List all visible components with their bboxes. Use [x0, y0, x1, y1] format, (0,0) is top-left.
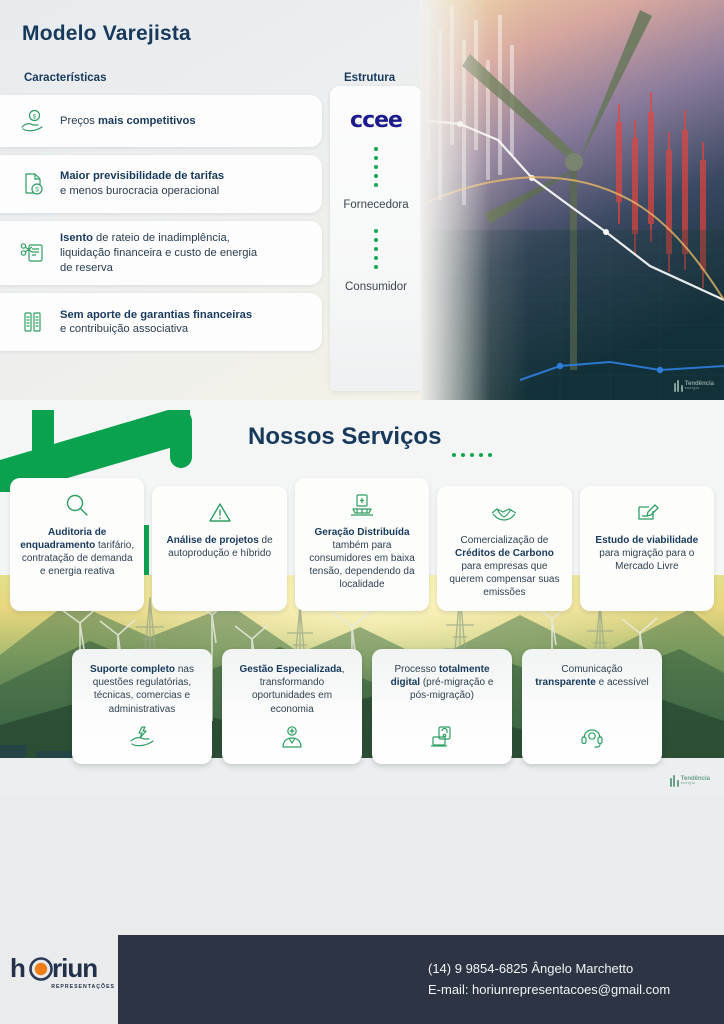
feature-bold: Sem aporte de garantias financeiras: [60, 309, 252, 321]
warning-triangle-icon: [207, 498, 233, 528]
service-card-comunicacao-transparente[interactable]: Comunicação transparente e acessível: [522, 649, 662, 764]
service-text: Auditoria de enquadramento tarifário, co…: [18, 526, 136, 578]
feature-line2: liquidação financeira e custo de energia: [60, 247, 257, 259]
service-bold: Análise de projetos: [167, 535, 259, 546]
service-card-auditoria[interactable]: Auditoria de enquadramento tarifário, co…: [10, 478, 144, 611]
horiun-logo[interactable]: h riun REPRESENTAÇÕES: [10, 953, 115, 990]
solar-panel-icon: [349, 490, 375, 520]
service-card-analise[interactable]: Análise de projetos de autoprodução e hí…: [152, 486, 286, 611]
services-top-row: Auditoria de enquadramento tarifário, co…: [10, 478, 714, 611]
watermark-text: Tendência energia: [685, 381, 714, 391]
dot-connector-2: [374, 229, 378, 269]
hero-left-fade: [420, 0, 490, 400]
person-gear-icon: [279, 725, 305, 754]
service-rest: e acessível: [596, 677, 649, 688]
service-card-creditos-carbono[interactable]: Comercialização de Créditos de Carbono p…: [437, 486, 571, 611]
ccee-logo: ccee: [350, 108, 402, 133]
service-bold: transparente: [535, 677, 596, 688]
service-bold: Créditos de Carbono: [455, 548, 554, 559]
magnifier-icon: [64, 490, 90, 520]
service-lead: Comunicação: [561, 664, 622, 675]
service-rest: (pré-migração e pós-migração): [410, 677, 493, 701]
watermark-bars-icon: [670, 775, 679, 787]
estrutura-node-consumidor: Consumidor: [345, 281, 407, 293]
services-title: Nossos Serviços: [248, 423, 441, 451]
caracteristicas-list: $ Preços mais competitivos $: [0, 95, 322, 359]
service-bold: Estudo de viabilidade: [595, 535, 698, 546]
feature-card-isento[interactable]: Isento de rateio de inadimplência, liqui…: [0, 221, 322, 285]
dot-connector-1: [374, 147, 378, 187]
footer-phone: (14) 9 9854-6825 Ângelo Marchetto: [428, 959, 670, 979]
service-card-gestao-especializada[interactable]: Gestão Especializada, transformando opor…: [222, 649, 362, 764]
feature-line3: de reserva: [60, 262, 113, 274]
service-card-geracao-distribuida[interactable]: Geração Distribuída também para consumid…: [295, 478, 429, 611]
services-title-dots: [452, 453, 492, 457]
service-lead: Comercialização de: [461, 535, 549, 546]
service-bold: Auditoria de enquadramento: [20, 527, 106, 551]
feature-text: Sem aporte de garantias financeiras e co…: [60, 308, 252, 338]
watermark-bars-icon: [674, 380, 683, 392]
feature-tail: de rateio de inadimplência,: [93, 232, 230, 244]
service-text: Processo totalmente digital (pré-migraçã…: [382, 663, 502, 703]
service-text: Suporte completo nas questões regulatóri…: [82, 663, 202, 716]
hand-money-icon: $: [18, 106, 48, 136]
service-text: Análise de projetos de autoprodução e hí…: [160, 534, 278, 560]
laptop-lock-icon: [429, 725, 455, 754]
service-text: Geração Distribuída também para consumid…: [303, 526, 421, 591]
svg-text:riun: riun: [52, 953, 97, 983]
tendencia-watermark-bottom: Tendência energia: [670, 775, 710, 787]
watermark-sub: energia: [681, 782, 710, 786]
tendencia-watermark: Tendência energia: [674, 380, 714, 392]
feature-text: Isento de rateio de inadimplência, liqui…: [60, 231, 257, 275]
services-bottom-strip: [0, 780, 724, 795]
hand-leaf-energy-icon: [128, 725, 156, 754]
feature-bold: mais competitivos: [98, 115, 196, 127]
feature-bold: Maior previsibilidade de tarifas: [60, 170, 224, 182]
feature-bold: Isento: [60, 232, 93, 244]
label-estrutura: Estrutura: [344, 72, 395, 84]
page-footer: (14) 9 9854-6825 Ângelo Marchetto E-mail…: [0, 925, 724, 1024]
label-caracteristicas: Características: [24, 72, 106, 84]
service-bold: Gestão Especializada: [239, 664, 341, 675]
service-bold: Geração Distribuída: [315, 527, 410, 538]
service-rest: para migração para o Mercado Livre: [599, 548, 694, 572]
footer-email: E-mail: horiunrepresentacoes@gmail.com: [428, 980, 670, 1000]
service-rest: para empresas que querem compensar suas …: [449, 561, 559, 598]
service-text: Estudo de viabilidade para migração para…: [588, 534, 706, 573]
watermark-sub: energia: [685, 387, 714, 391]
feature-line2: e contribuição associativa: [60, 323, 188, 335]
watermark-text: Tendência energia: [681, 776, 710, 786]
service-card-estudo-viabilidade[interactable]: Estudo de viabilidade para migração para…: [580, 486, 714, 611]
hero-energy-market-image: Tendência energia: [420, 0, 724, 400]
footer-contact-bar: (14) 9 9854-6825 Ângelo Marchetto E-mail…: [118, 935, 724, 1024]
horiun-logo-subtitle: REPRESENTAÇÕES: [10, 984, 115, 990]
service-rest: também para consumidores em baixa tensão…: [309, 540, 415, 590]
horiun-wordmark-icon: h riun: [10, 953, 115, 983]
svg-text:h: h: [10, 953, 25, 983]
headset-support-icon: [579, 725, 605, 754]
feature-card-garantias[interactable]: Sem aporte de garantias financeiras e co…: [0, 293, 322, 351]
service-lead: Processo: [394, 664, 438, 675]
estrutura-column: ccee Fornecedora Consumidor: [330, 86, 422, 391]
footer-contact-block: (14) 9 9854-6825 Ângelo Marchetto E-mail…: [428, 959, 670, 999]
estrutura-node-fornecedora: Fornecedora: [343, 199, 408, 211]
service-text: Comercialização de Créditos de Carbono p…: [445, 534, 563, 599]
page-title: Modelo Varejista: [22, 22, 191, 46]
services-bottom-row: Suporte completo nas questões regulatóri…: [72, 649, 662, 764]
document-money-icon: $: [18, 169, 48, 199]
handshake-icon: [490, 498, 518, 528]
pencil-board-icon: [634, 498, 660, 528]
service-card-suporte-completo[interactable]: Suporte completo nas questões regulatóri…: [72, 649, 212, 764]
feature-text: Preços mais competitivos: [60, 114, 196, 129]
service-bold: Suporte completo: [90, 664, 175, 675]
feature-card-precos[interactable]: $ Preços mais competitivos: [0, 95, 322, 147]
modelo-varejista-section: Tendência energia Modelo Varejista Carac…: [0, 0, 724, 400]
feature-text: Maior previsibilidade de tarifas e menos…: [60, 169, 224, 199]
infographic-page: Tendência energia Modelo Varejista Carac…: [0, 0, 724, 1024]
scissors-cut-icon: [18, 238, 48, 268]
feature-card-previsibilidade[interactable]: $ Maior previsibilidade de tarifas e men…: [0, 155, 322, 213]
feature-line2: e menos burocracia operacional: [60, 185, 219, 197]
battery-bars-icon: [18, 307, 48, 337]
service-text: Gestão Especializada, transformando opor…: [232, 663, 352, 716]
feature-lead: Preços: [60, 115, 98, 127]
page-spacer: [0, 795, 724, 925]
service-text: Comunicação transparente e acessível: [532, 663, 652, 689]
service-card-processo-digital[interactable]: Processo totalmente digital (pré-migraçã…: [372, 649, 512, 764]
